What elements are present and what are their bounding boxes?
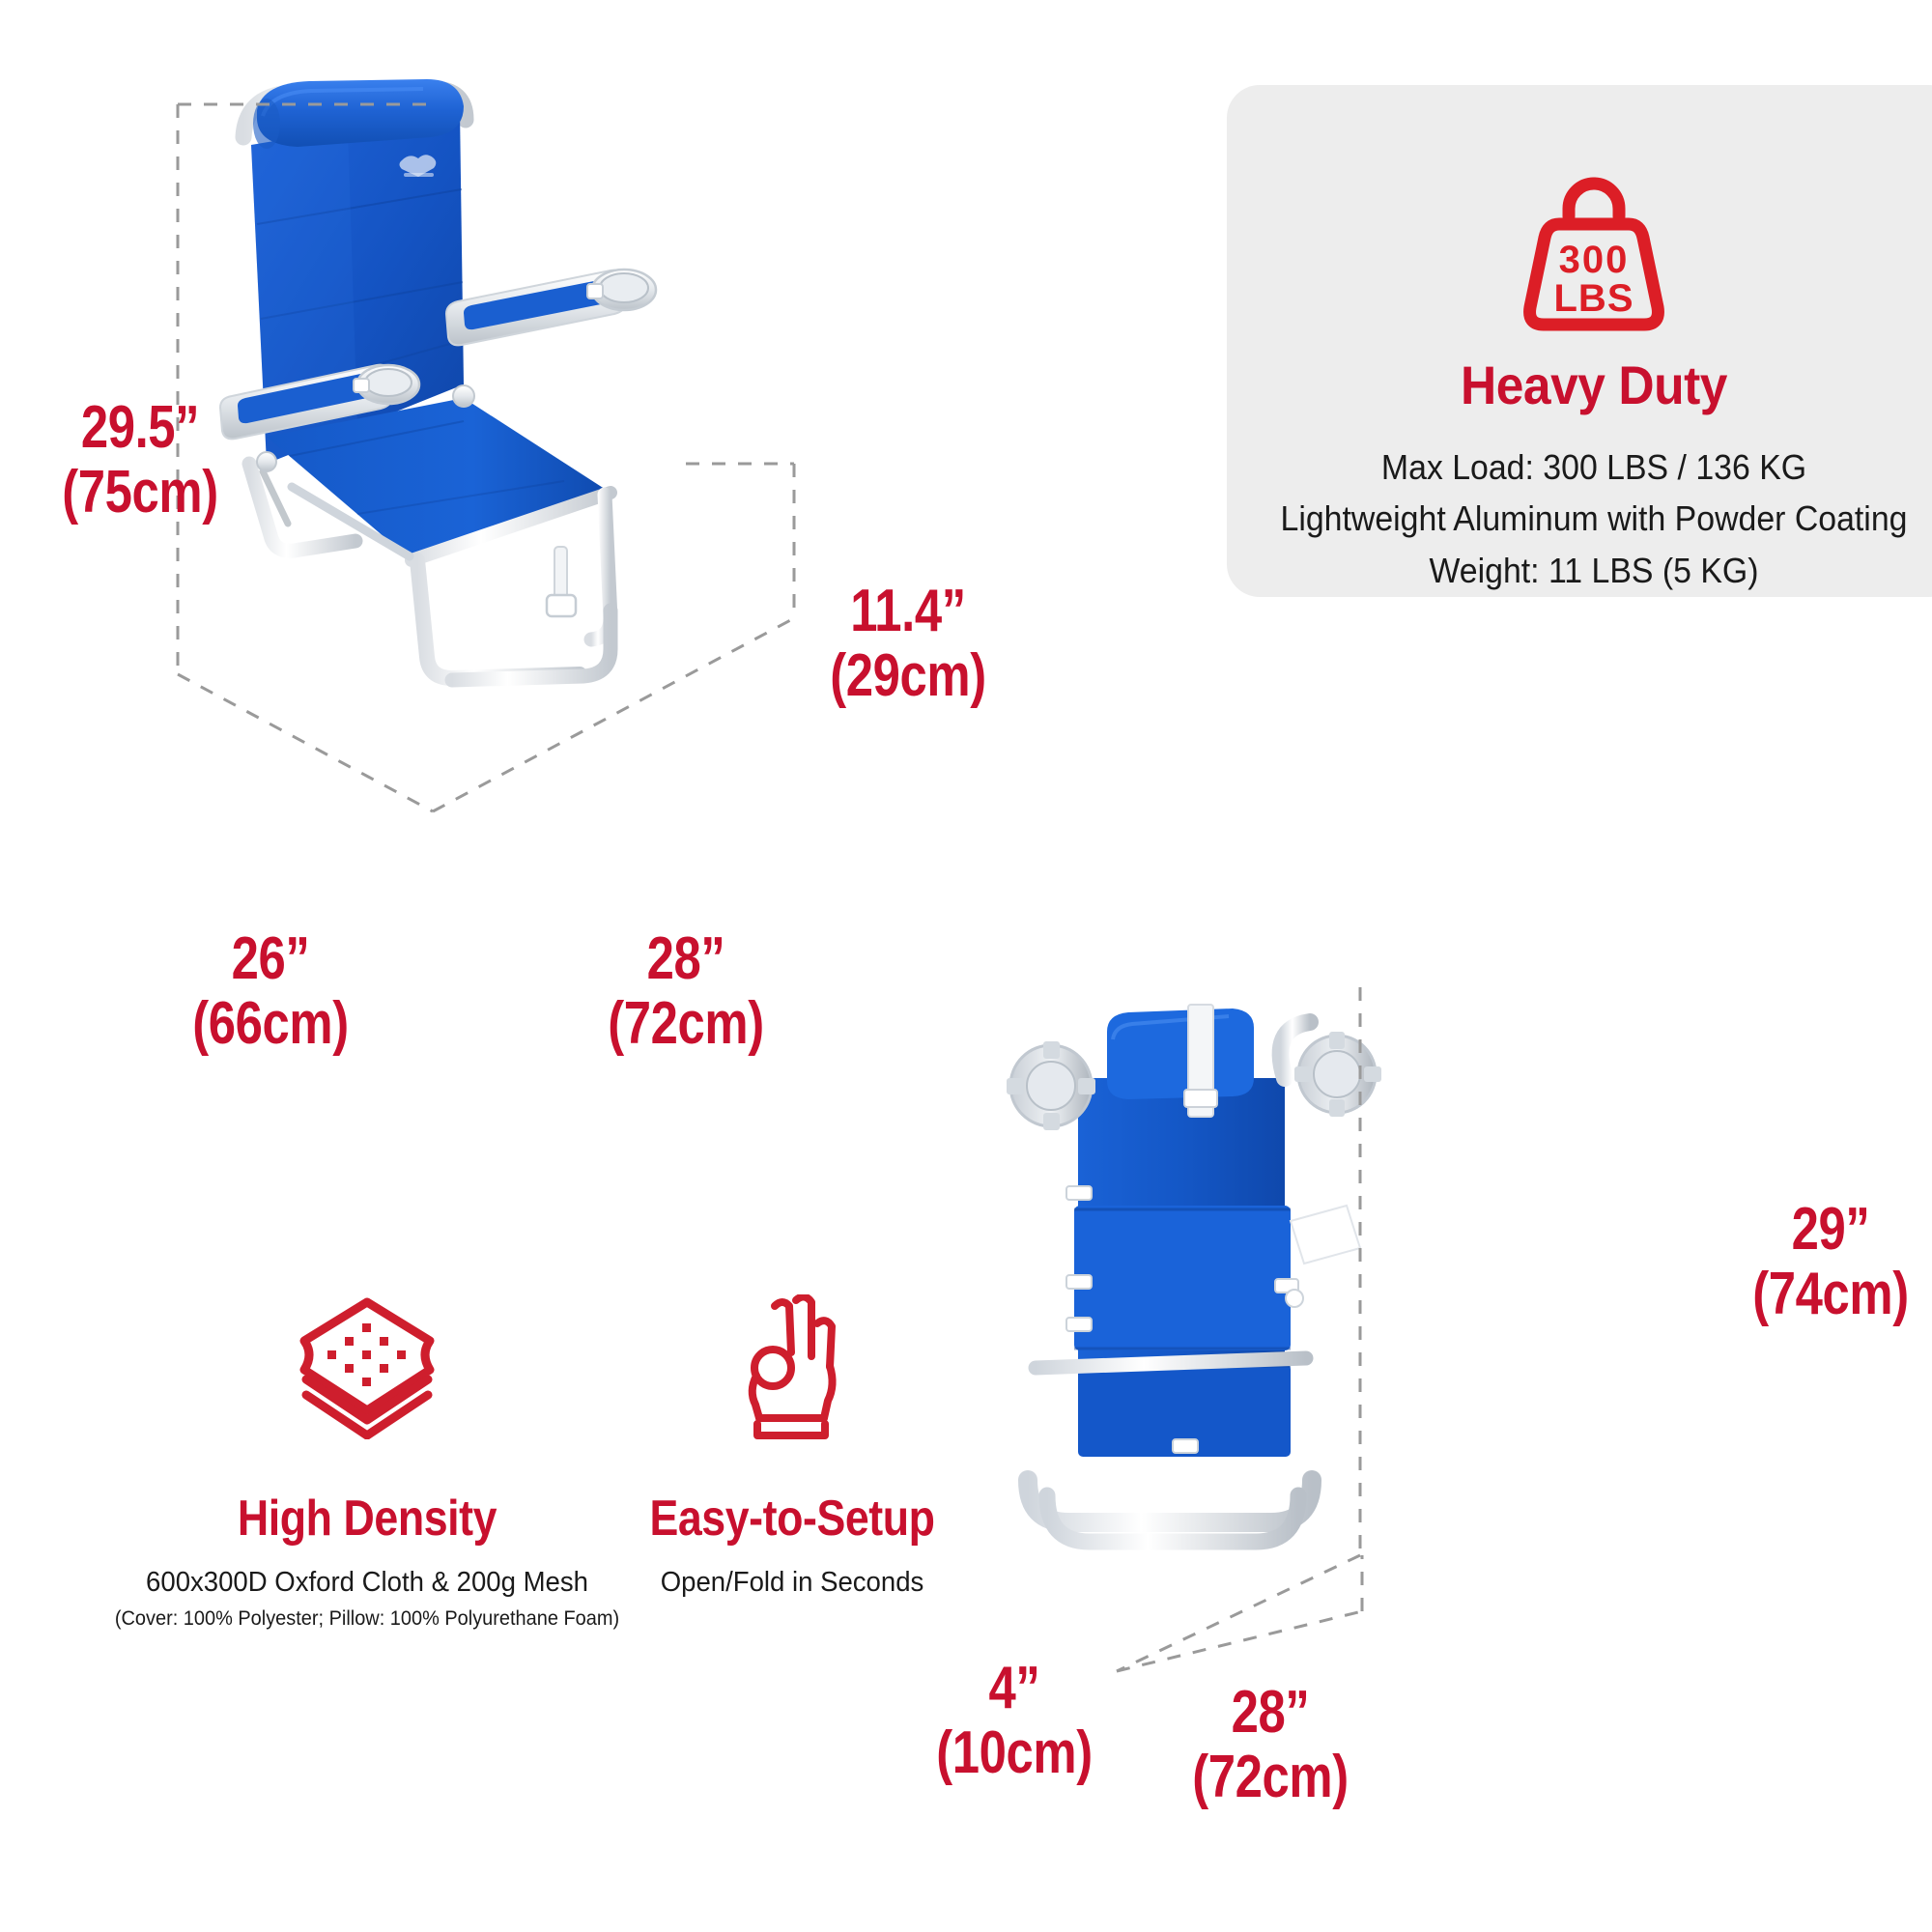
heavy-duty-title: Heavy Duty <box>1256 354 1931 416</box>
infographic-canvas: 29.5” (75cm) 26” (66cm) 28” (72cm) 11.4”… <box>0 0 1932 1932</box>
dimension-inches: 28” <box>587 927 785 992</box>
heavy-duty-panel: 300 LBS Heavy Duty Max Load: 300 LBS / 1… <box>1227 85 1932 597</box>
dimension-metric: (66cm) <box>172 992 370 1057</box>
feature-subtitle-secondary: (Cover: 100% Polyester; Pillow: 100% Pol… <box>46 1607 689 1631</box>
dimension-label-open-seat-height: 11.4” (29cm) <box>810 580 1008 709</box>
dimension-metric: (75cm) <box>49 461 232 526</box>
ok-hand-icon <box>724 1294 860 1439</box>
dimension-label-folded-thickness: 4” (10cm) <box>920 1657 1110 1786</box>
dimension-inches: 4” <box>920 1657 1110 1721</box>
dimension-metric: (29cm) <box>810 644 1008 709</box>
dimension-label-folded-width: 28” (72cm) <box>1172 1681 1370 1810</box>
dimension-inches: 26” <box>172 927 370 992</box>
spec-weight: Weight: 11 LBS (5 KG) <box>1249 545 1932 596</box>
spec-max-load: Max Load: 300 LBS / 136 KG <box>1249 441 1932 493</box>
dimension-inches: 11.4” <box>810 580 1008 644</box>
dimension-label-open-depth: 26” (66cm) <box>172 927 370 1057</box>
dimension-metric: (10cm) <box>920 1721 1110 1786</box>
heavy-duty-spec-list: Max Load: 300 LBS / 136 KG Lightweight A… <box>1227 441 1932 596</box>
weight-badge-icon: 300 LBS <box>1517 174 1671 338</box>
dimension-label-open-height: 29.5” (75cm) <box>49 396 232 526</box>
open-chair-dimension-guides <box>145 77 1034 947</box>
dimension-metric: (72cm) <box>1172 1746 1370 1810</box>
spec-material: Lightweight Aluminum with Powder Coating <box>1249 493 1932 544</box>
dimension-inches: 28” <box>1172 1681 1370 1746</box>
badge-number-text: 300 <box>1559 239 1630 281</box>
dimension-metric: (72cm) <box>587 992 785 1057</box>
dimension-inches: 29” <box>1740 1198 1922 1263</box>
dimension-metric: (74cm) <box>1740 1263 1922 1327</box>
dimension-label-open-width: 28” (72cm) <box>587 927 785 1057</box>
badge-unit-text: LBS <box>1554 277 1634 320</box>
folded-chair-dimension-guides <box>947 966 1816 1739</box>
layered-fabric-icon <box>285 1294 449 1439</box>
dimension-inches: 29.5” <box>49 396 232 461</box>
dimension-label-folded-height: 29” (74cm) <box>1740 1198 1922 1327</box>
